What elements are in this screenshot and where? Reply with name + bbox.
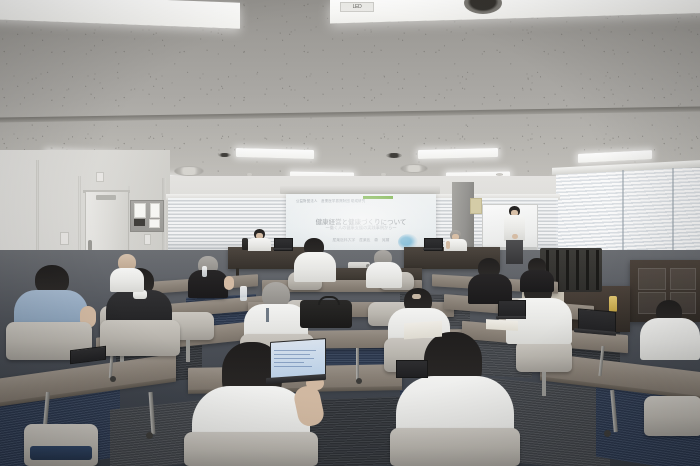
attendee-laptop-centre[interactable] bbox=[396, 360, 428, 378]
notice-paper-2 bbox=[150, 203, 160, 218]
presenter-right-arm bbox=[446, 241, 450, 249]
speaker-trousers bbox=[506, 240, 523, 264]
stacked-chair-leg-4 bbox=[576, 250, 579, 290]
chair[interactable] bbox=[184, 432, 318, 466]
ceiling-speaker-icon-2 bbox=[400, 164, 428, 173]
chair[interactable] bbox=[644, 396, 700, 436]
presenter-left-torso bbox=[248, 238, 271, 251]
hair-clip-icon bbox=[412, 294, 421, 299]
water-bottle bbox=[240, 286, 247, 301]
notice-paper-1 bbox=[134, 203, 146, 218]
handout-papers-2 bbox=[486, 319, 518, 331]
attendee-torso bbox=[640, 318, 700, 360]
laptop-text-line bbox=[274, 366, 312, 367]
table-caster bbox=[110, 376, 116, 382]
attendee-torso bbox=[366, 262, 402, 288]
stacked-chair-leg-6 bbox=[596, 250, 599, 290]
attendee-torso bbox=[110, 268, 144, 292]
water-bottle-2 bbox=[202, 266, 207, 277]
attendee-torso bbox=[294, 252, 336, 282]
table-caster bbox=[146, 432, 153, 439]
cabinet-panel bbox=[638, 268, 666, 290]
chair-post bbox=[186, 340, 190, 362]
light-panel-label: LED bbox=[340, 2, 374, 12]
presenter-right-laptop-base bbox=[423, 248, 442, 250]
bottled-drink bbox=[609, 296, 617, 312]
seminar-room-photo: LED 公益財団法人 産業医 bbox=[0, 0, 700, 466]
wall-switch-icon-2[interactable] bbox=[60, 232, 69, 245]
projection-screen-housing bbox=[280, 186, 440, 194]
laptop-text-line bbox=[274, 354, 310, 355]
attendee-laptop-right-base[interactable] bbox=[496, 316, 526, 319]
ceiling-speaker-icon-1 bbox=[174, 166, 204, 176]
emergency-light-icon bbox=[96, 172, 104, 182]
chair-seat bbox=[30, 446, 92, 460]
dark-thermos bbox=[242, 238, 248, 250]
chair-post bbox=[542, 372, 546, 396]
laptop-text-line bbox=[274, 350, 316, 351]
stacked-chair-leg-3 bbox=[566, 250, 569, 290]
speaker-hands bbox=[512, 234, 518, 239]
table-caster bbox=[356, 378, 362, 384]
ceiling-vent-icon-3 bbox=[218, 153, 231, 157]
stacked-chair-leg-5 bbox=[586, 250, 589, 290]
notice-paper-3 bbox=[149, 219, 160, 228]
door-closer-icon bbox=[96, 195, 116, 200]
laptop-text-line bbox=[274, 362, 304, 363]
wall-poster bbox=[470, 198, 482, 214]
wall-switch-icon-1[interactable] bbox=[144, 234, 151, 245]
laptop-text-line bbox=[274, 358, 314, 359]
chair[interactable] bbox=[390, 428, 520, 466]
presenter-left-laptop-base bbox=[273, 248, 292, 250]
attendee-arm bbox=[224, 276, 234, 290]
handout-papers bbox=[404, 321, 442, 340]
attendee-torso bbox=[520, 270, 554, 292]
table-caster bbox=[604, 430, 611, 437]
attendee-lanyard bbox=[266, 308, 269, 322]
chair[interactable] bbox=[100, 320, 180, 356]
attendee-torso bbox=[188, 270, 228, 298]
cabinet-panel-2 bbox=[670, 268, 696, 290]
chair[interactable] bbox=[516, 340, 572, 372]
table-leg bbox=[356, 348, 359, 380]
notice-photo-strip bbox=[134, 219, 145, 226]
ceiling-vent-icon-2 bbox=[386, 153, 402, 158]
bag-strap-icon bbox=[318, 296, 340, 305]
